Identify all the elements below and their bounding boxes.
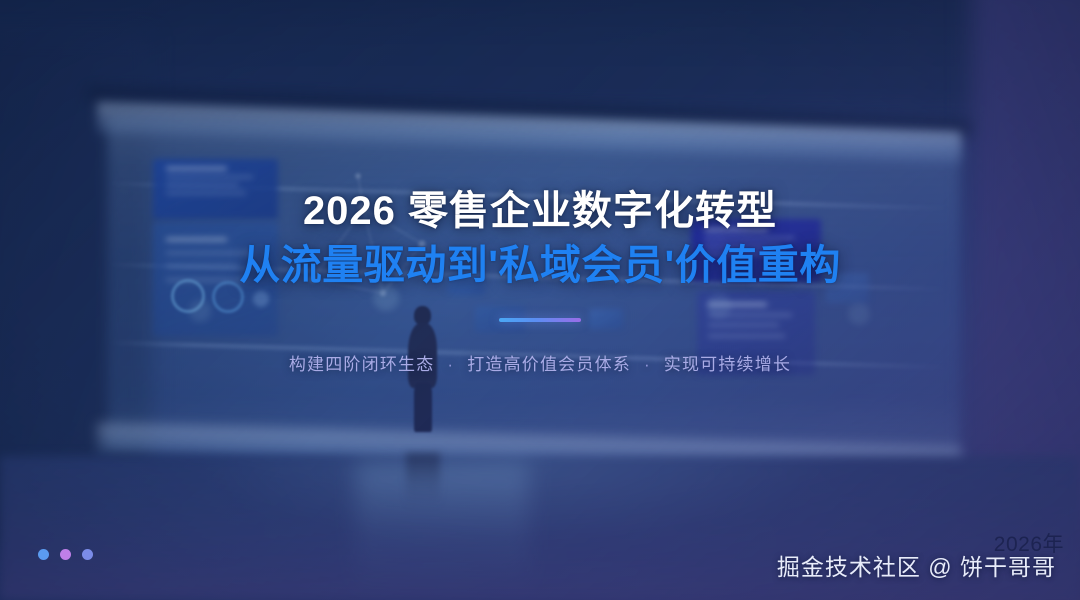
subtitle-separator: · [440,355,461,374]
decorative-dots [38,549,93,560]
subtitle-separator: · [637,355,658,374]
dot-blue-icon [38,549,49,560]
slide-title-secondary: 从流量驱动到'私域会员'价值重构 [239,241,841,289]
slide-content: 2026 零售企业数字化转型 从流量驱动到'私域会员'价值重构 构建四阶闭环生态… [0,0,1080,600]
title-divider [499,318,581,322]
watermark-credit: 掘金技术社区 @ 饼干哥哥 [777,548,1056,582]
subtitle-part-2: 打造高价值会员体系 [467,355,631,374]
dot-periwinkle-icon [82,549,93,560]
dot-purple-icon [60,549,71,560]
subtitle-part-1: 构建四阶闭环生态 [289,355,435,374]
subtitle-part-3: 实现可持续增长 [664,355,791,374]
title-block: 2026 零售企业数字化转型 从流量驱动到'私域会员'价值重构 [239,188,841,290]
presentation-slide: 2026 零售企业数字化转型 从流量驱动到'私域会员'价值重构 构建四阶闭环生态… [0,0,1080,600]
slide-title-primary: 2026 零售企业数字化转型 [239,188,841,235]
slide-subtitle: 构建四阶闭环生态 · 打造高价值会员体系 · 实现可持续增长 [289,350,791,375]
